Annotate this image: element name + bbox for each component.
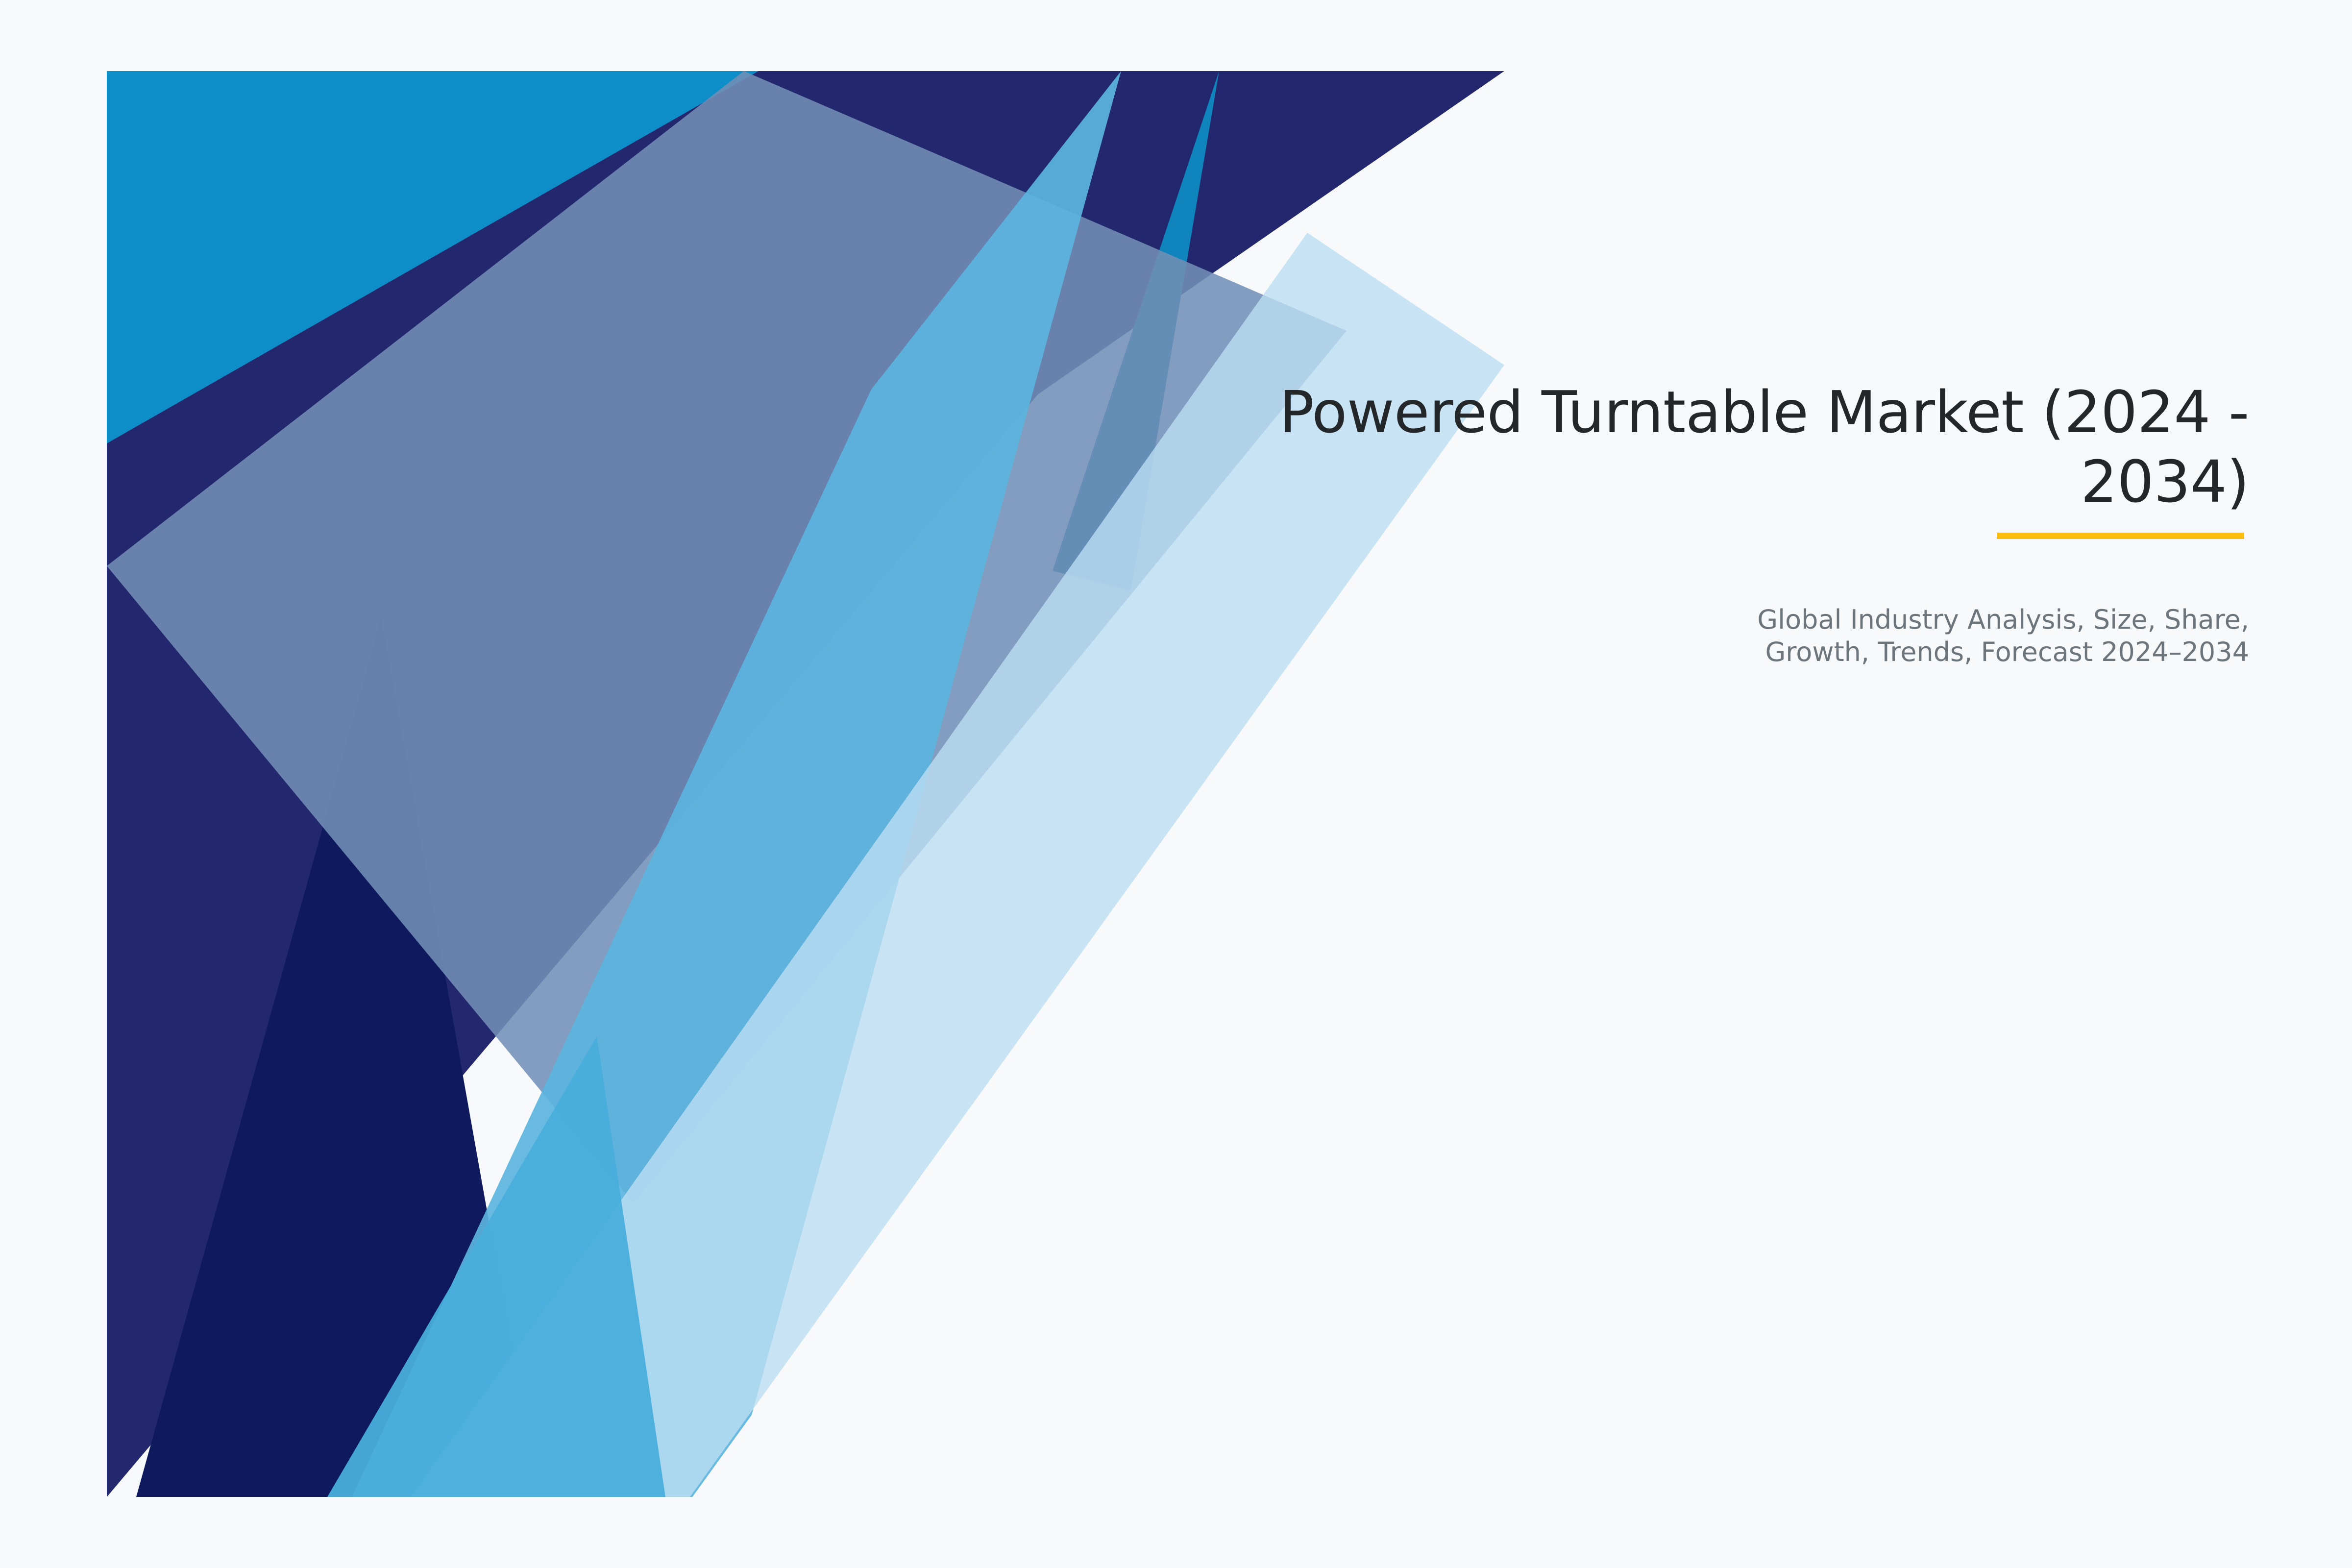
page-subtitle-line-2: Growth, Trends, Forecast 2024–2034 xyxy=(931,636,2249,668)
page-title-line-2: 2034) xyxy=(931,447,2249,516)
page-title-line-1: Powered Turntable Market (2024 - xyxy=(931,377,2249,447)
slide-canvas: Powered Turntable Market (2024 - 2034) G… xyxy=(0,0,2352,1568)
cover-text-block: Powered Turntable Market (2024 - 2034) G… xyxy=(931,377,2249,668)
title-underline-accent xyxy=(1997,533,2244,539)
abstract-geometric-graphic xyxy=(107,71,1504,1497)
page-title: Powered Turntable Market (2024 - 2034) xyxy=(931,377,2249,516)
cover-artwork xyxy=(107,71,1504,1497)
page-subtitle-line-1: Global Industry Analysis, Size, Share, xyxy=(931,604,2249,636)
page-subtitle: Global Industry Analysis, Size, Share, G… xyxy=(931,604,2249,668)
